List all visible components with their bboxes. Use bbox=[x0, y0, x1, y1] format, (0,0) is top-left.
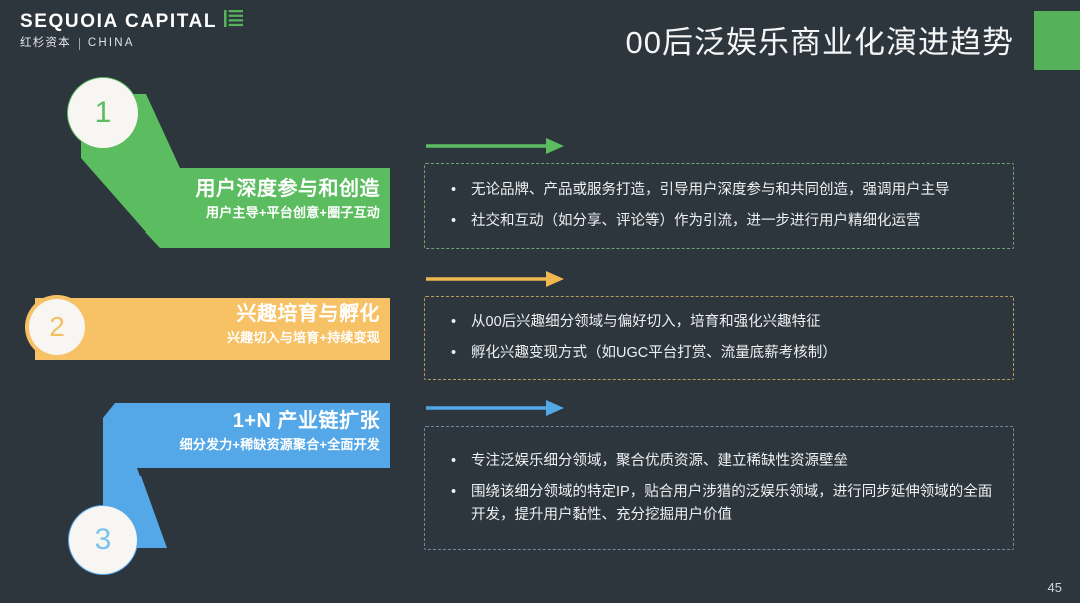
step-2-detail-box: • 从00后兴趣细分领域与偏好切入，培育和强化兴趣特征 • 孵化兴趣变现方式（如… bbox=[424, 296, 1014, 380]
step-1-bullet-list: • 无论品牌、产品或服务打造，引导用户深度参与和共同创造，强调用户主导 • 社交… bbox=[451, 170, 993, 242]
accent-square bbox=[1034, 11, 1080, 70]
bullet-item: • 专注泛娱乐细分领域，聚合优质资源、建立稀缺性资源壁垒 bbox=[451, 450, 993, 472]
bullet-item: • 孵化兴趣变现方式（如UGC平台打赏、流量底薪考核制） bbox=[451, 343, 993, 365]
step-2-subtitle: 兴趣切入与培育+持续变现 bbox=[120, 330, 380, 346]
logo-chinese-name: 红杉资本 bbox=[20, 38, 71, 50]
slide-root: SEQUOIA CAPITAL 红杉资本 CHINA 00后泛娱乐商业化演进趋势 bbox=[0, 0, 1080, 603]
logo-subtitle-row: 红杉资本 CHINA bbox=[20, 38, 260, 50]
bullet-item: • 围绕该细分领域的特定IP，贴合用户涉猎的泛娱乐领域，进行同步延伸领域的全面开… bbox=[451, 481, 993, 526]
bullet-marker: • bbox=[451, 481, 471, 503]
step-2-number-circle: 2 bbox=[29, 299, 85, 355]
step-1-number-circle: 1 bbox=[68, 78, 138, 148]
step-3-bullet-list: • 专注泛娱乐细分领域，聚合优质资源、建立稀缺性资源壁垒 • 围绕该细分领域的特… bbox=[451, 441, 993, 535]
bullet-marker: • bbox=[451, 211, 471, 233]
logo-wordmark: SEQUOIA CAPITAL bbox=[20, 12, 217, 31]
step-1-flow-arrow-icon bbox=[424, 136, 569, 156]
step-2-bullet-list: • 从00后兴趣细分领域与偏好切入，培育和强化兴趣特征 • 孵化兴趣变现方式（如… bbox=[451, 302, 993, 374]
step-3-flow-arrow-icon bbox=[424, 398, 569, 418]
step-1-number: 1 bbox=[95, 98, 112, 128]
step-1-subtitle: 用户主导+平台创意+圈子互动 bbox=[120, 205, 380, 221]
step-2-band-text: 兴趣培育与孵化 兴趣切入与培育+持续变现 bbox=[120, 303, 380, 346]
step-1-title: 用户深度参与和创造 bbox=[120, 178, 380, 201]
step-1-detail-box: • 无论品牌、产品或服务打造，引导用户深度参与和共同创造，强调用户主导 • 社交… bbox=[424, 163, 1014, 249]
step-3-shape: 3 1+N 产业链扩张 细分发力+稀缺资源聚合+全面开发 bbox=[55, 398, 400, 578]
bullet-text: 无论品牌、产品或服务打造，引导用户深度参与和共同创造，强调用户主导 bbox=[471, 179, 993, 201]
bullet-marker: • bbox=[451, 450, 471, 472]
step-3-number-circle: 3 bbox=[69, 506, 137, 574]
sequoia-mark-icon bbox=[224, 10, 243, 32]
logo-wordmark-row: SEQUOIA CAPITAL bbox=[20, 10, 260, 32]
bullet-marker: • bbox=[451, 179, 471, 201]
step-1-shape: 1 用户深度参与和创造 用户主导+平台创意+圈子互动 bbox=[50, 72, 400, 252]
bullet-text: 社交和互动（如分享、评论等）作为引流，进一步进行用户精细化运营 bbox=[471, 211, 993, 233]
step-2-flow-arrow-icon bbox=[424, 269, 569, 289]
sequoia-logo: SEQUOIA CAPITAL 红杉资本 CHINA bbox=[20, 10, 260, 50]
step-3-subtitle: 细分发力+稀缺资源聚合+全面开发 bbox=[115, 437, 380, 453]
logo-region-label: CHINA bbox=[88, 38, 135, 50]
step-3-detail-box: • 专注泛娱乐细分领域，聚合优质资源、建立稀缺性资源壁垒 • 围绕该细分领域的特… bbox=[424, 426, 1014, 550]
step-2-shape: 2 兴趣培育与孵化 兴趣切入与培育+持续变现 bbox=[25, 294, 400, 364]
step-2-title: 兴趣培育与孵化 bbox=[120, 303, 380, 326]
step-3-number: 3 bbox=[95, 525, 112, 555]
logo-divider bbox=[79, 38, 80, 50]
bullet-marker: • bbox=[451, 311, 471, 333]
step-2-number: 2 bbox=[49, 313, 65, 341]
bullet-text: 专注泛娱乐细分领域，聚合优质资源、建立稀缺性资源壁垒 bbox=[471, 450, 993, 472]
bullet-item: • 无论品牌、产品或服务打造，引导用户深度参与和共同创造，强调用户主导 bbox=[451, 179, 993, 201]
step-3-band-text: 1+N 产业链扩张 细分发力+稀缺资源聚合+全面开发 bbox=[115, 410, 380, 453]
bullet-item: • 社交和互动（如分享、评论等）作为引流，进一步进行用户精细化运营 bbox=[451, 211, 993, 233]
step-1-band-text: 用户深度参与和创造 用户主导+平台创意+圈子互动 bbox=[120, 178, 380, 221]
bullet-text: 孵化兴趣变现方式（如UGC平台打赏、流量底薪考核制） bbox=[471, 343, 993, 365]
page-number: 45 bbox=[1048, 580, 1062, 595]
page-title: 00后泛娱乐商业化演进趋势 bbox=[626, 17, 1014, 62]
bullet-marker: • bbox=[451, 343, 471, 365]
bullet-item: • 从00后兴趣细分领域与偏好切入，培育和强化兴趣特征 bbox=[451, 311, 993, 333]
bullet-text: 从00后兴趣细分领域与偏好切入，培育和强化兴趣特征 bbox=[471, 311, 993, 333]
bullet-text: 围绕该细分领域的特定IP，贴合用户涉猎的泛娱乐领域，进行同步延伸领域的全面开发，… bbox=[471, 481, 993, 526]
step-3-title: 1+N 产业链扩张 bbox=[115, 410, 380, 433]
